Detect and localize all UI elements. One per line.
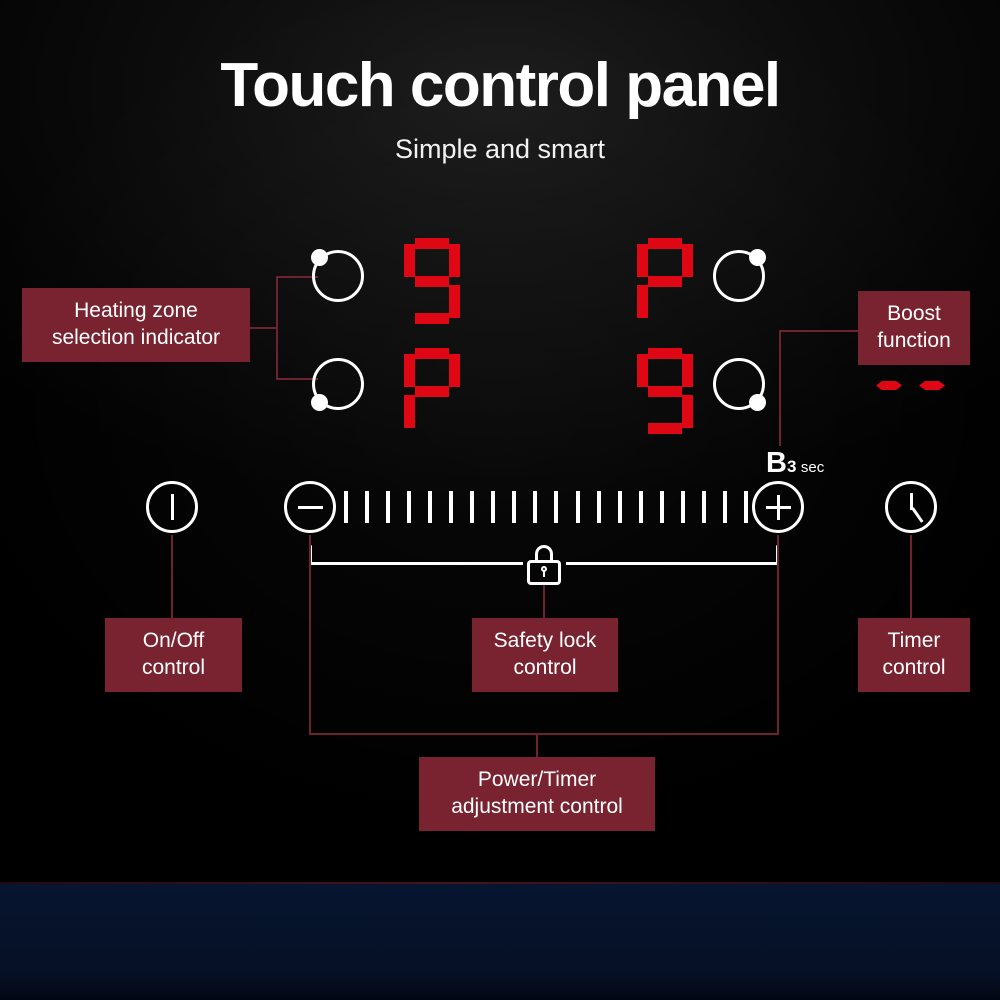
label-timer-line2: control (872, 655, 956, 682)
connector-heating-trunk (276, 276, 278, 380)
slider-tick[interactable] (639, 491, 643, 523)
slider-tick[interactable] (597, 491, 601, 523)
label-boost-line2: function (872, 328, 956, 355)
connector-power-right-vertical (777, 535, 779, 735)
zone-ring-icon-top-right[interactable] (713, 250, 765, 302)
slider-tick[interactable] (723, 491, 727, 523)
label-power-line2: adjustment control (433, 794, 641, 821)
label-safety-line1: Safety lock (486, 628, 604, 655)
zone-dot-bottom-right (749, 394, 766, 411)
slider-tick[interactable] (702, 491, 706, 523)
clock-icon[interactable] (885, 481, 937, 533)
connector-power-stem (536, 733, 538, 757)
slider-tick[interactable] (470, 491, 474, 523)
zone-digit-top-right (637, 238, 693, 324)
zone-digit-top-left (404, 238, 460, 324)
slider-tick[interactable] (428, 491, 432, 523)
zone-ring-icon-bottom-right[interactable] (713, 358, 765, 410)
slider-tick[interactable] (365, 491, 369, 523)
lock-icon (527, 545, 561, 585)
zone-digit-bottom-right (637, 348, 693, 434)
lock-keyhole-stem (543, 571, 545, 577)
label-onoff-line2: control (119, 655, 228, 682)
plus-icon[interactable] (752, 481, 804, 533)
zone-ring-icon-bottom-left[interactable] (312, 358, 364, 410)
lock-brace-right-horizontal (566, 562, 778, 565)
clock-hand-minute (911, 507, 923, 523)
connector-power-horizontal (309, 733, 779, 735)
slider-tick[interactable] (449, 491, 453, 523)
boost-hold-letter: B (766, 447, 787, 479)
zone-dot-top-right (749, 249, 766, 266)
touch-control-panel-infographic: Touch control panel Simple and smart Hea… (0, 0, 1000, 1000)
zone-ring-icon-top-left[interactable] (312, 250, 364, 302)
label-timer-line1: Timer (872, 628, 956, 655)
slider-tick[interactable] (554, 491, 558, 523)
power-icon[interactable] (146, 481, 198, 533)
connector-safety-lock (543, 585, 545, 618)
slider-tick[interactable] (491, 491, 495, 523)
zone-dot-top-left (311, 249, 328, 266)
label-onoff-line1: On/Off (119, 628, 228, 655)
boost-hold-unit: sec (801, 459, 824, 476)
label-boost-function: Boost function (858, 291, 970, 365)
lock-brace-left-horizontal (311, 562, 523, 565)
label-power-line1: Power/Timer (433, 767, 641, 794)
plus-bar-v (777, 495, 780, 520)
page-subtitle: Simple and smart (0, 134, 1000, 165)
label-heating-zone-line2: selection indicator (36, 325, 236, 352)
slider-tick[interactable] (386, 491, 390, 523)
slider-tick[interactable] (407, 491, 411, 523)
power-level-slider[interactable] (344, 491, 748, 523)
slider-tick[interactable] (618, 491, 622, 523)
label-heating-zone-line1: Heating zone (36, 298, 236, 325)
slider-tick[interactable] (576, 491, 580, 523)
label-heating-zone: Heating zone selection indicator (22, 288, 250, 362)
slider-tick[interactable] (533, 491, 537, 523)
boost-hold-number: 3 (787, 457, 796, 476)
slider-tick[interactable] (744, 491, 748, 523)
page-title: Touch control panel (0, 55, 1000, 117)
boost-hold-marker: B3 sec (766, 447, 824, 480)
label-safety-line2: control (486, 655, 604, 682)
connector-boost-horizontal (779, 330, 859, 332)
minus-bar (298, 506, 323, 509)
label-power-timer-control: Power/Timer adjustment control (419, 757, 655, 831)
minus-icon[interactable] (284, 481, 336, 533)
connector-timer (910, 535, 912, 618)
label-onoff-control: On/Off control (105, 618, 242, 692)
slider-tick[interactable] (681, 491, 685, 523)
zone-dot-bottom-left (311, 394, 328, 411)
slider-tick[interactable] (512, 491, 516, 523)
power-bar (171, 494, 174, 520)
label-timer-control: Timer control (858, 618, 970, 692)
slider-tick[interactable] (344, 491, 348, 523)
label-boost-line1: Boost (872, 301, 956, 328)
connector-power-left-vertical (309, 535, 311, 735)
slider-tick[interactable] (660, 491, 664, 523)
connector-heating-stem (250, 327, 278, 329)
connector-onoff (171, 535, 173, 618)
background-blue-shade (0, 884, 1000, 1000)
zone-digit-bottom-left (404, 348, 460, 434)
label-safety-lock-control: Safety lock control (472, 618, 618, 692)
connector-boost-vertical (779, 330, 781, 446)
